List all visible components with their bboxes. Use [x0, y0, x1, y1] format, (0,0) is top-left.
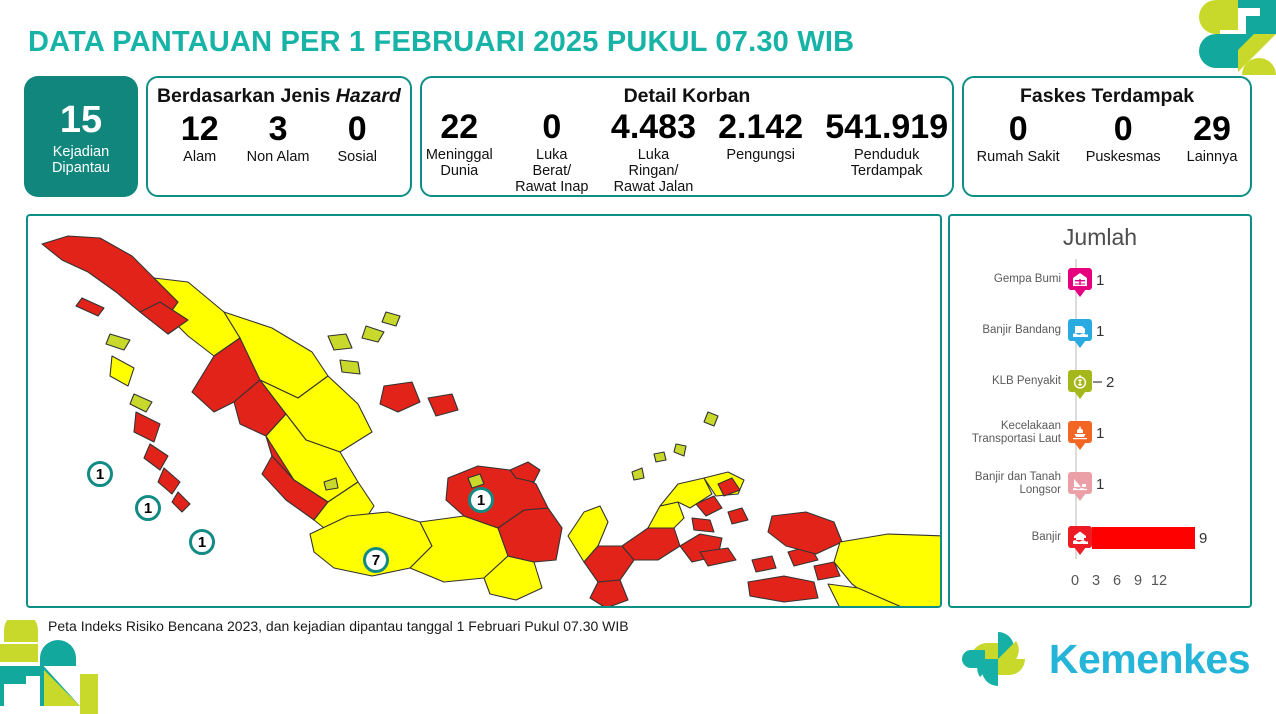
marker-ring: 1 — [135, 495, 161, 521]
map-marker[interactable]: 1 — [468, 487, 494, 513]
kejadian-label: Kejadian Dipantau — [24, 144, 138, 176]
marker-ring: 7 — [363, 547, 389, 573]
stat-non-alam: 3 Non Alam — [243, 112, 314, 166]
stat-puskesmas: 0 Puskesmas — [1082, 112, 1165, 166]
kemenkes-logo: Kemenkes — [957, 626, 1250, 692]
stat-rumah-sakit-caption: Rumah Sakit — [977, 150, 1060, 166]
chart-row[interactable]: Banjir 9 — [950, 515, 1250, 561]
chart-plot-area: Gempa Bumi 1 — [950, 257, 1250, 567]
stat-penduduk-value: 541.919 — [825, 110, 948, 146]
chart-bar-value: 2 — [1106, 374, 1114, 391]
chart-bar-wrap: 9 — [1092, 527, 1250, 549]
stat-alam-caption: Alam — [181, 150, 219, 166]
kemenkes-logo-mark — [957, 626, 1039, 692]
kemenkes-logo-text: Kemenkes — [1049, 636, 1250, 683]
chart-row[interactable]: Banjir Bandang 1 — [950, 308, 1250, 354]
stat-luka-ringan: 4.483 Luka Ringan/ Rawat Jalan — [607, 110, 700, 196]
kejadian-dipantau-card: 15 Kejadian Dipantau — [24, 76, 138, 197]
chart-bar-value: 1 — [1096, 425, 1104, 442]
stat-puskesmas-value: 0 — [1086, 112, 1161, 148]
chart-category-label: Gempa Bumi — [950, 273, 1068, 286]
flash-flood-icon — [1068, 319, 1092, 343]
map-marker[interactable]: 1 — [135, 495, 161, 521]
hazard-stats: 12 Alam 3 Non Alam 0 Sosial — [148, 112, 410, 166]
map-marker[interactable]: 1 — [189, 529, 215, 555]
hazard-title-italic: Hazard — [336, 85, 401, 107]
stat-non-alam-caption: Non Alam — [247, 150, 310, 166]
stat-rumah-sakit: 0 Rumah Sakit — [973, 112, 1064, 166]
map-marker[interactable]: 1 — [87, 461, 113, 487]
chart-bar-value: 1 — [1096, 323, 1104, 340]
chart-category-label: KLB Penyakit — [950, 375, 1068, 388]
chart-title: Jumlah — [950, 224, 1250, 251]
stat-puskesmas-caption: Puskesmas — [1086, 150, 1161, 166]
map-marker[interactable]: 7 — [363, 547, 389, 573]
kpi-row: 15 Kejadian Dipantau Berdasarkan Jenis H… — [24, 76, 1252, 197]
corner-decoration-bottom-left — [0, 620, 120, 714]
stat-luka-berat: 0 Luka Berat/ Rawat Inap — [511, 110, 593, 196]
footnote: Peta Indeks Risiko Bencana 2023, dan kej… — [48, 618, 629, 634]
kejadian-value: 15 — [60, 101, 102, 139]
marker-value: 7 — [372, 553, 380, 568]
stat-rumah-sakit-value: 0 — [977, 112, 1060, 148]
chart-row[interactable]: KLB Penyakit 2 — [950, 359, 1250, 405]
chart-y-axis — [1075, 259, 1077, 559]
stat-meninggal-caption: Meninggal Dunia — [426, 148, 493, 180]
stat-penduduk-caption: Penduduk Terdampak — [825, 148, 948, 180]
jumlah-chart-panel: Jumlah Gempa Bumi — [948, 214, 1252, 608]
stat-alam-value: 12 — [181, 112, 219, 148]
chart-bar-wrap: 1 — [1092, 422, 1250, 444]
stat-alam: 12 Alam — [177, 112, 223, 166]
disease-outbreak-icon — [1068, 370, 1092, 394]
chart-row[interactable]: Gempa Bumi 1 — [950, 257, 1250, 303]
stat-luka-berat-caption: Luka Berat/ Rawat Inap — [515, 148, 589, 196]
chart-row[interactable]: Kecelakaan Transportasi Laut 1 — [950, 410, 1250, 456]
marker-value: 1 — [198, 535, 206, 550]
chart-category-label: Banjir Bandang — [950, 324, 1068, 337]
hazard-panel: Berdasarkan Jenis Hazard 12 Alam 3 Non A… — [146, 76, 412, 197]
marker-ring: 1 — [189, 529, 215, 555]
faskes-terdampak-panel: Faskes Terdampak 0 Rumah Sakit 0 Puskesm… — [962, 76, 1252, 197]
marker-value: 1 — [96, 467, 104, 482]
stat-pengungsi: 2.142 Pengungsi — [714, 110, 807, 164]
chart-value-leader — [1093, 381, 1102, 383]
stat-sosial: 0 Sosial — [333, 112, 381, 166]
flood-landslide-icon — [1068, 472, 1092, 496]
stat-non-alam-value: 3 — [247, 112, 310, 148]
stat-sosial-caption: Sosial — [337, 150, 377, 166]
chart-x-axis-ticks: 0 3 6 9 12 — [1075, 573, 1243, 589]
chart-bar-value: 1 — [1096, 272, 1104, 289]
dashboard-root: DATA PANTAUAN PER 1 FEBRUARI 2025 PUKUL … — [0, 0, 1276, 714]
korban-stats: 22 Meninggal Dunia 0 Luka Berat/ Rawat I… — [422, 110, 952, 196]
faskes-stats: 0 Rumah Sakit 0 Puskesmas 29 Lainnya — [964, 112, 1250, 166]
chart-bar-value: 1 — [1096, 476, 1104, 493]
stat-pengungsi-caption: Pengungsi — [718, 148, 803, 164]
indonesia-map — [28, 216, 942, 608]
stat-meninggal-dunia: 22 Meninggal Dunia — [422, 110, 497, 180]
marker-ring: 1 — [468, 487, 494, 513]
sea-transport-accident-icon — [1068, 421, 1092, 445]
stat-luka-ringan-value: 4.483 — [611, 110, 696, 146]
stat-penduduk-terdampak: 541.919 Penduduk Terdampak — [821, 110, 952, 180]
stat-lainnya-caption: Lainnya — [1187, 150, 1238, 166]
stat-pengungsi-value: 2.142 — [718, 110, 803, 146]
chart-bar-value: 9 — [1199, 530, 1207, 547]
marker-value: 1 — [144, 501, 152, 516]
detail-korban-panel: Detail Korban 22 Meninggal Dunia 0 Luka … — [420, 76, 954, 197]
stat-luka-ringan-caption: Luka Ringan/ Rawat Jalan — [611, 148, 696, 196]
x-tick: 12 — [1138, 573, 1180, 589]
chart-row[interactable]: Banjir dan Tanah Longsor 1 — [950, 461, 1250, 507]
faskes-panel-title: Faskes Terdampak — [964, 85, 1250, 108]
chart-category-label: Banjir dan Tanah Longsor — [950, 471, 1068, 497]
korban-panel-title: Detail Korban — [422, 85, 952, 108]
stat-meninggal-value: 22 — [426, 110, 493, 146]
chart-category-label: Banjir — [950, 531, 1068, 544]
chart-bar-wrap: 1 — [1092, 269, 1250, 291]
hazard-panel-title: Berdasarkan Jenis Hazard — [148, 85, 410, 108]
chart-category-label: Kecelakaan Transportasi Laut — [950, 420, 1068, 446]
hazard-title-prefix: Berdasarkan Jenis — [157, 85, 336, 107]
earthquake-house-icon — [1068, 268, 1092, 292]
chart-bar — [1092, 527, 1195, 549]
stat-luka-berat-value: 0 — [515, 110, 589, 146]
marker-ring: 1 — [87, 461, 113, 487]
page-title: DATA PANTAUAN PER 1 FEBRUARI 2025 PUKUL … — [28, 26, 854, 59]
stat-lainnya-value: 29 — [1187, 112, 1238, 148]
chart-bar-wrap: 2 — [1092, 371, 1250, 393]
marker-value: 1 — [477, 493, 485, 508]
map-panel[interactable]: 1 1 1 7 1 2 — [26, 214, 942, 608]
stat-sosial-value: 0 — [337, 112, 377, 148]
chart-bar-wrap: 1 — [1092, 473, 1250, 495]
stat-lainnya: 29 Lainnya — [1183, 112, 1242, 166]
flood-icon — [1068, 526, 1092, 550]
chart-bar-wrap: 1 — [1092, 320, 1250, 342]
